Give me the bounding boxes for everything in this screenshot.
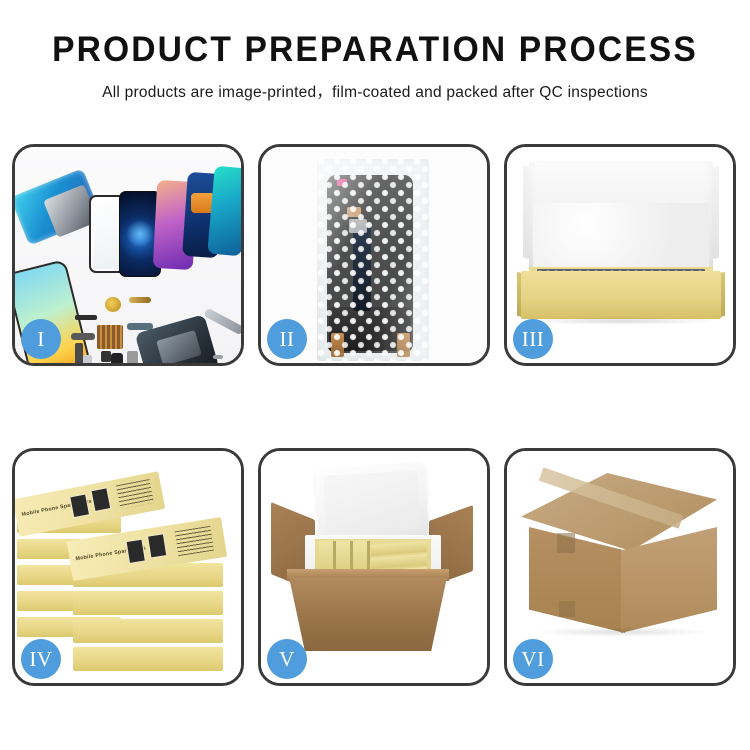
process-step-1: I [12,144,244,366]
box-spec-lines [175,526,214,556]
carton-seam-upper [557,533,575,553]
screen-glow [127,219,153,249]
step-badge-5: V [267,639,307,679]
process-step-grid: I II [12,144,738,689]
box-thumbnail [126,539,146,564]
plastic-sheen [317,157,429,361]
yellow-box-tray [521,271,721,319]
part-antenna [75,315,97,320]
process-step-3: III [504,144,736,366]
phone-screen-teal-image [207,166,244,257]
process-step-4: Mobile Phone Spare Parts Mobile Phone Sp… [12,448,244,686]
stacked-box [73,647,223,671]
header: PRODUCT PREPARATION PROCESS All products… [0,30,750,102]
drop-shadow [531,627,711,637]
part-screw-1 [213,355,223,359]
process-step-5: V [258,448,490,686]
product-preparation-infographic: PRODUCT PREPARATION PROCESS All products… [0,0,750,750]
stacked-box [73,619,223,643]
carton-seam-lower [559,601,575,617]
part-sim-tray [83,355,92,366]
foam-lid-inner [324,471,421,534]
part-connector [127,351,138,364]
step-badge-1: I [21,319,61,359]
part-circuit-board [97,325,123,349]
part-flex-cable-4 [129,297,151,303]
foam-surface [533,203,709,273]
part-button [101,351,111,362]
stacked-box [73,591,223,615]
box-spec-lines [116,479,154,509]
drop-shadow [525,317,717,325]
part-flex-cable-1 [71,333,95,340]
page-subtitle: All products are image-printed，film-coat… [0,80,750,102]
process-step-6: VI [504,448,736,686]
carton-body [289,577,447,651]
step-badge-3: III [513,319,553,359]
part-flex-cable-2 [75,343,83,365]
box-thumbnail [69,493,90,518]
glass-panel-inner [93,199,122,269]
step-badge-4: IV [21,639,61,679]
part-camera-module [111,353,123,365]
step-badge-6: VI [513,639,553,679]
page-title: PRODUCT PREPARATION PROCESS [15,30,735,70]
part-screw-2 [221,363,231,366]
box-thumbnail [147,533,167,558]
step-badge-2: II [267,319,307,359]
process-step-2: II [258,144,490,366]
part-speaker [105,297,121,312]
box-thumbnail [90,487,111,512]
